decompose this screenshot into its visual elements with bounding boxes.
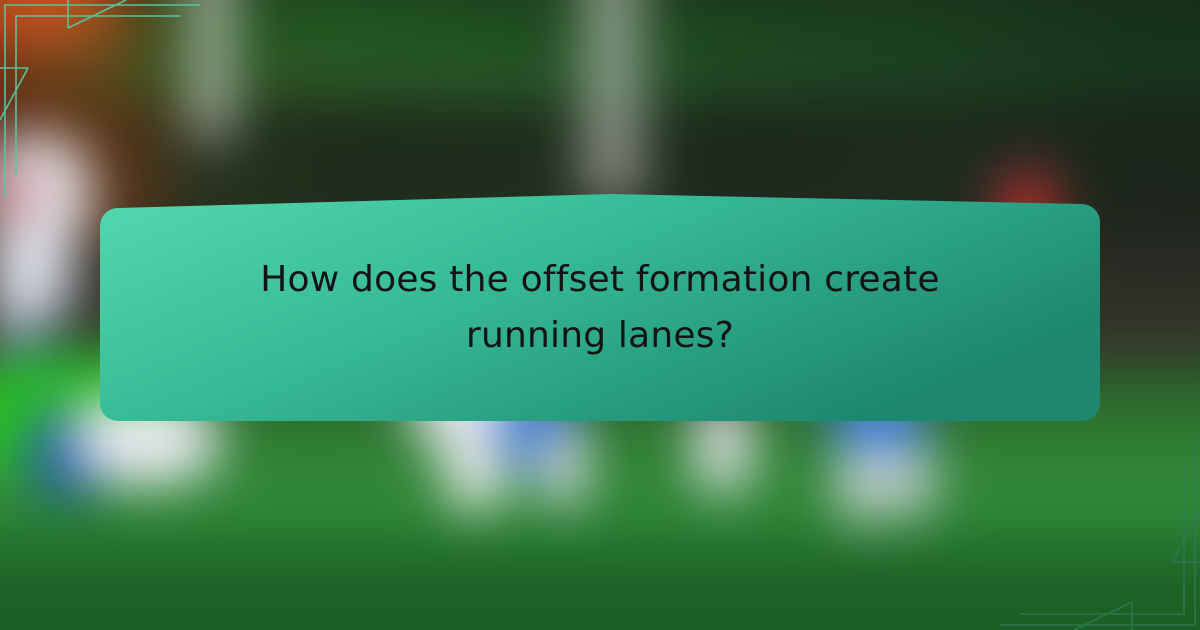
quote-card-question: How does the offset formation create run… [100, 190, 1100, 425]
player-blob [2, 175, 30, 215]
stadium-pillar-center [580, 0, 646, 200]
player-blob [892, 440, 932, 520]
quote-card: How does the offset formation create run… [100, 190, 1100, 425]
player-blob [0, 240, 74, 320]
screenshot-canvas: How does the offset formation create run… [0, 0, 1200, 630]
pitch-marking-line [0, 485, 1200, 492]
player-blob [840, 440, 884, 525]
soccer-ball [445, 450, 507, 512]
stadium-rail-line [0, 68, 1200, 72]
player-blob [540, 420, 586, 510]
